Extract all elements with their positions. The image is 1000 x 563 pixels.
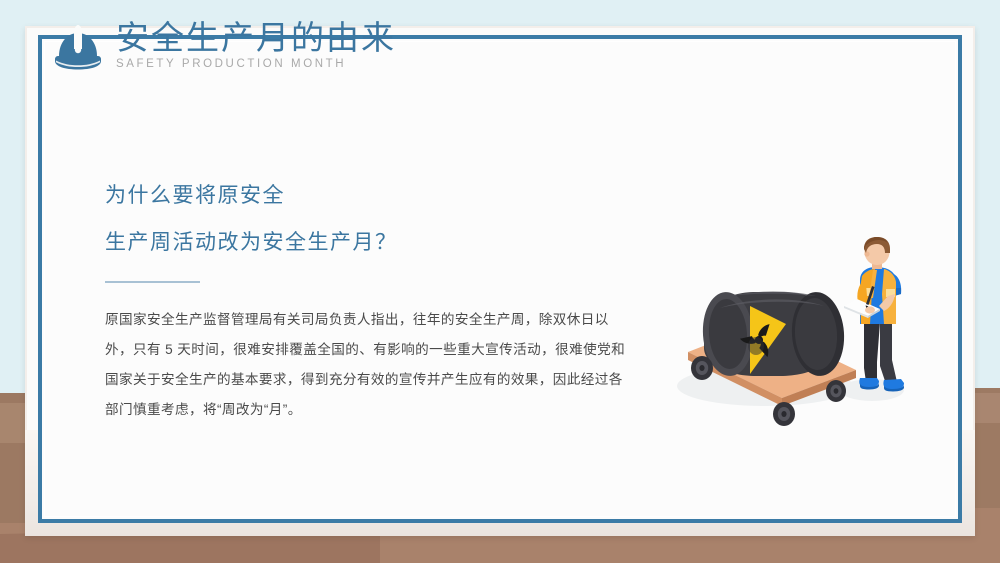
slide-stage: 安全生产月的由来 SAFETY PRODUCTION MONTH 为什么要将原安…: [0, 0, 1000, 563]
page-title: 安全生产月的由来: [116, 16, 396, 60]
body-paragraph: 原国家安全生产监督管理局有关司局负责人指出，往年的安全生产周，除双休日以外，只有…: [105, 305, 633, 425]
question-line-1: 为什么要将原安全: [105, 172, 665, 219]
cart-wheel: [691, 356, 713, 380]
slide-content: 为什么要将原安全 生产周活动改为安全生产月？ 原国家安全生产监督管理局有关司局负…: [105, 172, 665, 425]
isometric-hazard-barrel-cart-worker-illustration: [660, 228, 930, 433]
cart-wheel: [773, 402, 795, 426]
cart-wheel: [748, 337, 764, 355]
cart-wheel: [826, 380, 846, 402]
question-line-2: 生产周活动改为安全生产月？: [105, 219, 665, 266]
title-block: 安全生产月的由来 SAFETY PRODUCTION MONTH: [116, 16, 396, 70]
hazard-barrel: [700, 290, 847, 377]
section-divider: [105, 281, 200, 283]
safety-helmet-icon: [52, 23, 104, 71]
